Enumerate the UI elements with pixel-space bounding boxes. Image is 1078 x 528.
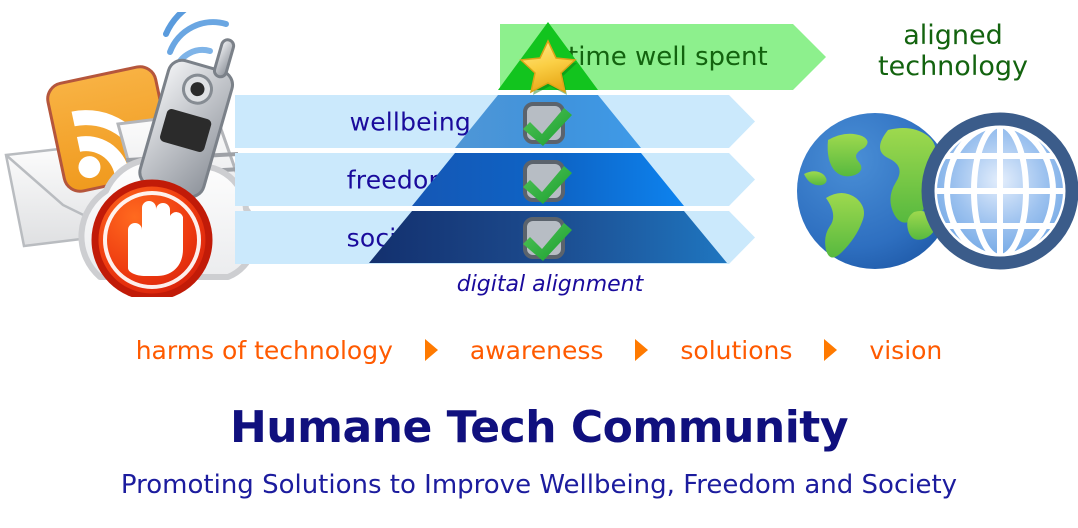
banner-label-society: society bbox=[347, 223, 437, 252]
process-step-awareness[interactable]: awareness bbox=[448, 336, 625, 365]
process-step-vision[interactable]: vision bbox=[847, 336, 964, 365]
page-title: Humane Tech Community bbox=[0, 402, 1078, 453]
banner-label-freedom: freedom bbox=[347, 165, 453, 194]
network-globe-icon bbox=[922, 113, 1078, 269]
triangle-right-icon bbox=[635, 339, 648, 361]
banner-time-well-spent: time well spent bbox=[500, 24, 826, 90]
aligned-technology-line2: technology bbox=[830, 51, 1076, 82]
pyramid-caption: digital alignment bbox=[372, 272, 728, 297]
triangle-right-icon bbox=[425, 339, 438, 361]
banner-society: society bbox=[235, 211, 755, 264]
globes-group bbox=[790, 100, 1078, 280]
aligned-technology-line1: aligned bbox=[830, 20, 1076, 51]
banner-freedom: freedom bbox=[235, 153, 755, 206]
process-step-harms-of-technology[interactable]: harms of technology bbox=[114, 336, 415, 365]
triangle-right-icon bbox=[824, 339, 837, 361]
page-subtitle: Promoting Solutions to Improve Wellbeing… bbox=[0, 470, 1078, 500]
banner-wellbeing: wellbeing bbox=[235, 95, 755, 148]
banner-label-time-well-spent: time well spent bbox=[568, 42, 768, 72]
process-flow-row: harms of technology awareness solutions … bbox=[0, 330, 1078, 370]
infographic-canvas: time well spent wellbeing freedom societ… bbox=[0, 0, 1078, 528]
stop-hand-icon bbox=[95, 183, 209, 297]
process-step-solutions[interactable]: solutions bbox=[658, 336, 814, 365]
aligned-technology-label: aligned technology bbox=[830, 20, 1076, 83]
banner-label-wellbeing: wellbeing bbox=[350, 107, 471, 136]
